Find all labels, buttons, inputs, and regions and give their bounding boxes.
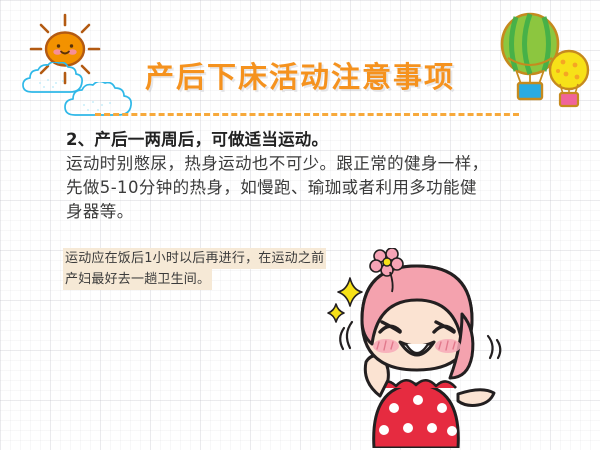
poster-canvas: 产后下床活动注意事项 2、产后一两周后，可做适当运动。 运动时别憋尿，热身运动也… [0, 0, 600, 450]
body-copy: 2、产后一两周后，可做适当运动。 运动时别憋尿，热身运动也不可少。跟正常的健身一… [66, 128, 552, 224]
note-line: 运动应在饭后1小时以后再进行，在运动之前 [63, 248, 326, 269]
hot-air-balloons-decoration [490, 8, 596, 112]
page-title: 产后下床活动注意事项 [145, 62, 455, 94]
title-block: 产后下床活动注意事项 [0, 62, 600, 94]
mother-character-illustration [318, 248, 514, 448]
sparkle-icon [328, 278, 362, 322]
body-line: 运动时别憋尿，热身运动也不可少。跟正常的健身一样， [66, 152, 552, 176]
body-line: 身器等。 [66, 200, 552, 224]
body-line: 先做5-10分钟的热身，如慢跑、瑜珈或者利用多功能健 [66, 176, 552, 200]
note-line: 产妇最好去一趟卫生间。 [63, 269, 212, 290]
body-line: 2、产后一两周后，可做适当运动。 [66, 128, 552, 152]
title-divider [95, 113, 519, 116]
